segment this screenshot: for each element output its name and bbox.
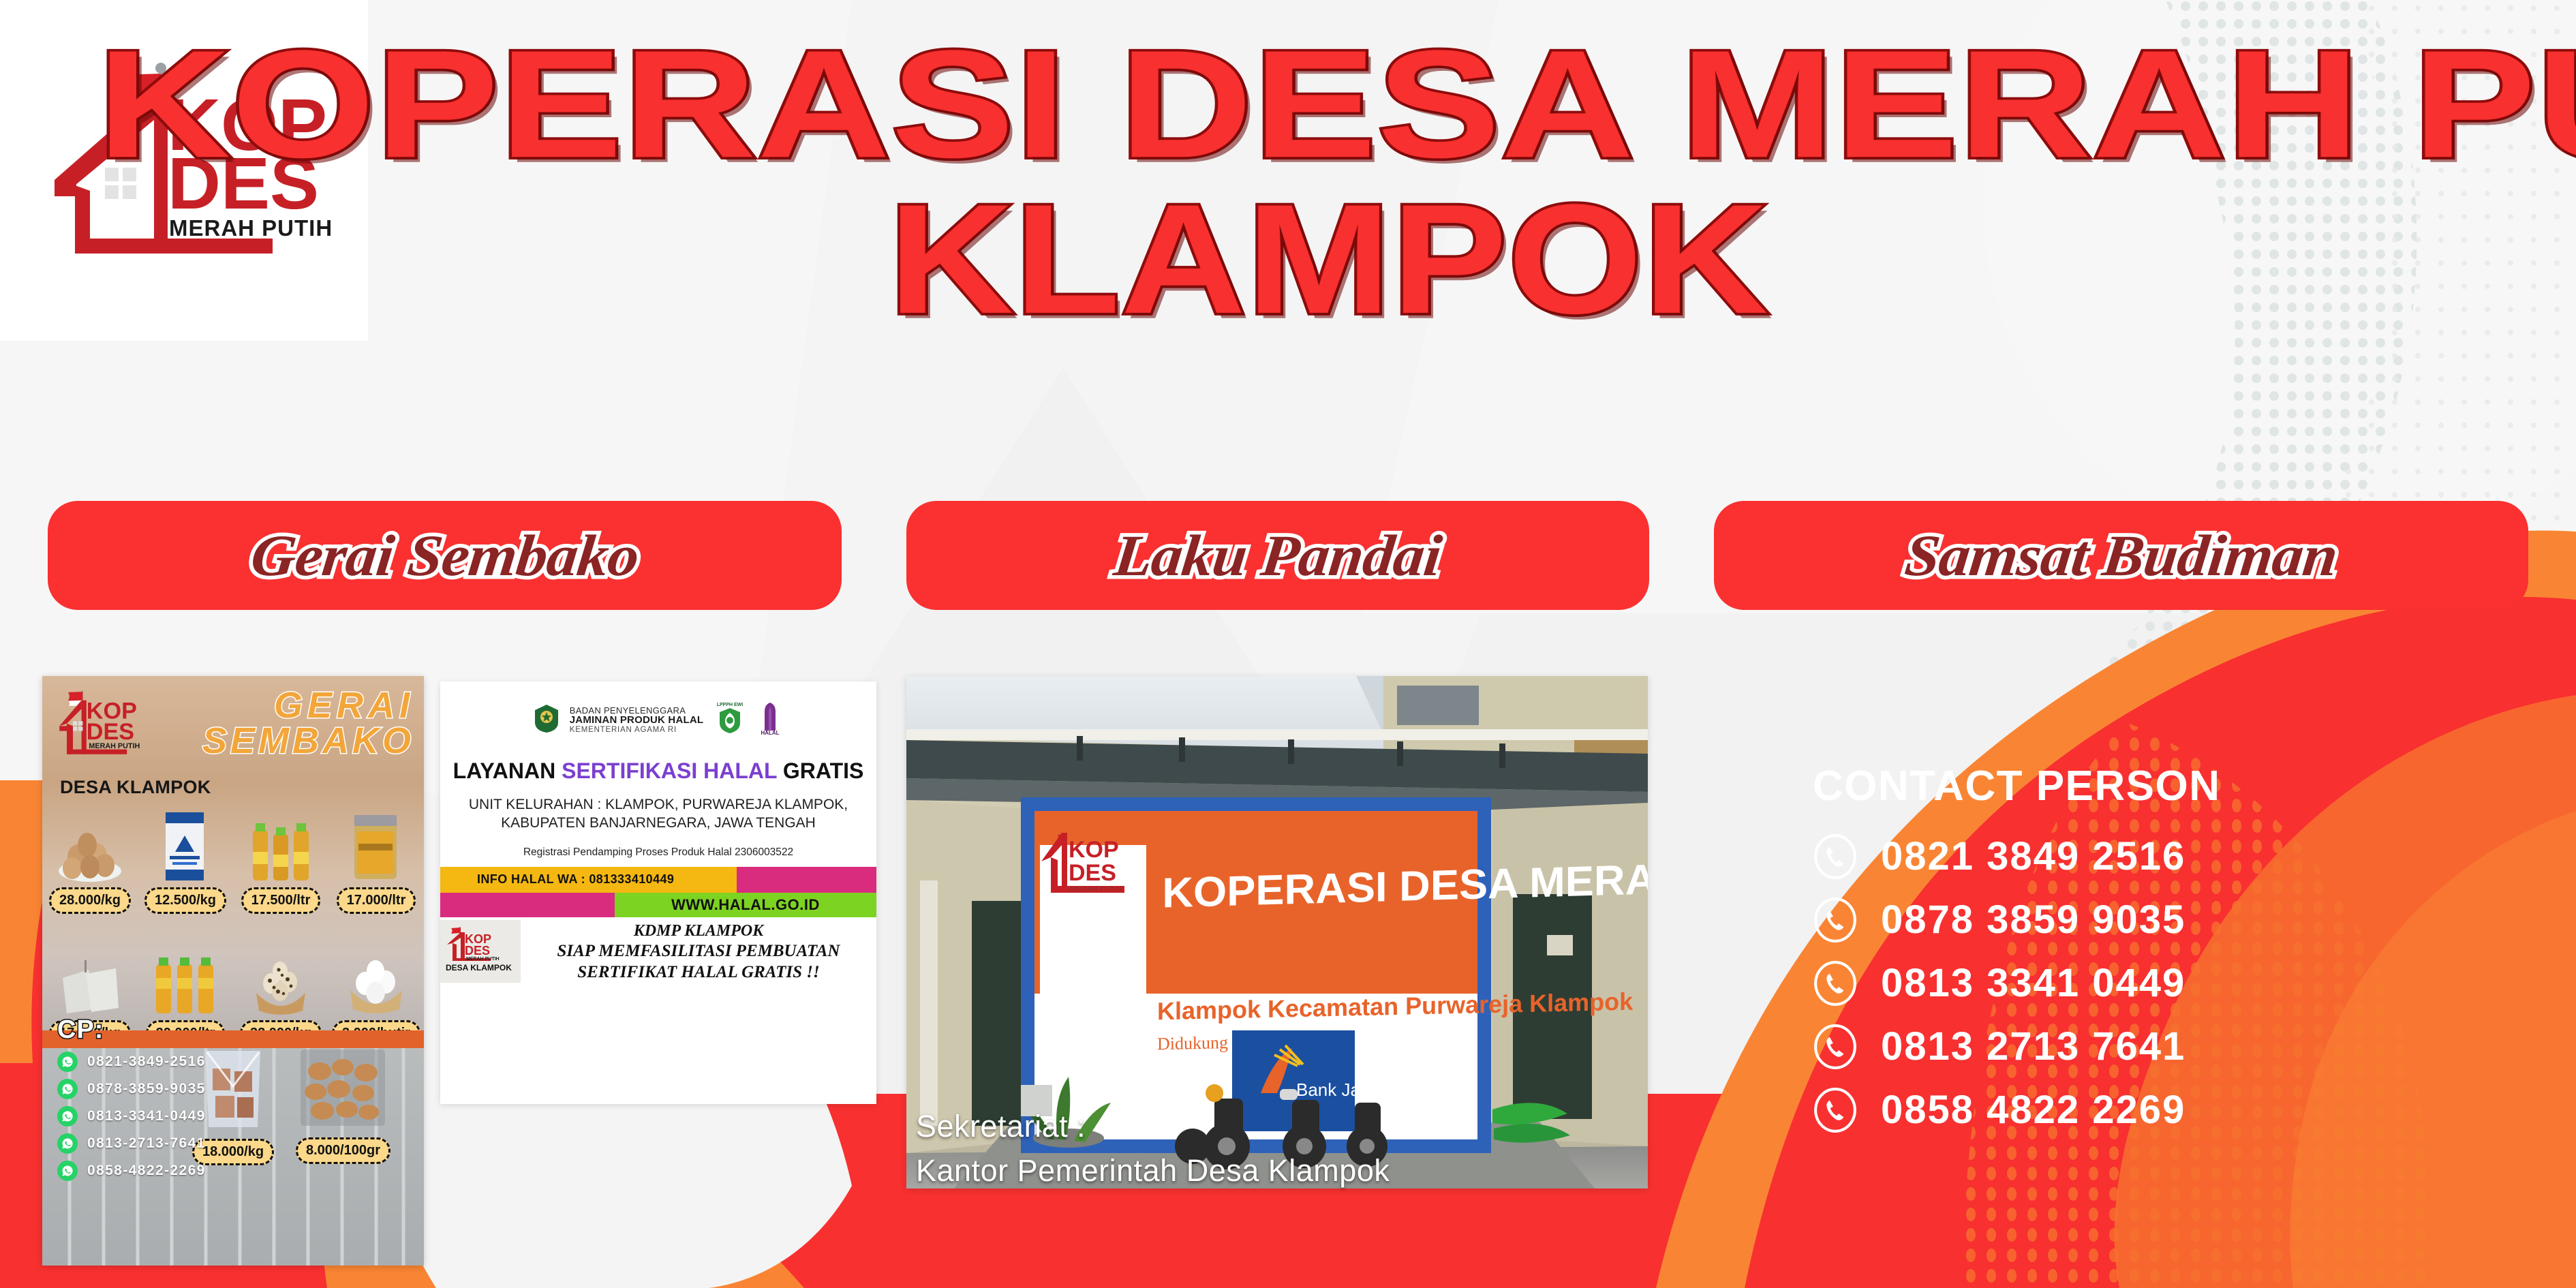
contact-title: CONTACT PERSON [1813, 762, 2221, 810]
contact-row[interactable]: 0821 3849 2516 [1813, 833, 2221, 879]
poster-heading-line1: GERAI [202, 688, 414, 724]
bar-info-wa: INFO HALAL WA : 081333410449 [440, 867, 737, 893]
service-pill-samsat-budiman[interactable]: Samsat Budiman [1714, 501, 2528, 610]
badge-line3: KEMENTERIAN AGAMA RI [570, 726, 704, 734]
bar-magenta-top [737, 867, 876, 893]
kemenag-logo [533, 703, 560, 737]
poster-sertifikasi-halal[interactable]: BADAN PENYELENGGARA JAMINAN PRODUK HALAL… [440, 681, 876, 1104]
cp-number: 0813-3341-0449 [87, 1108, 206, 1124]
halal-heading: LAYANAN SERTIFIKASI HALAL GRATIS [440, 758, 876, 784]
contact-number: 0813 2713 7641 [1881, 1024, 2186, 1069]
service-pill-label: Gerai Sembako [247, 521, 642, 589]
price-tag: 17.000/ltr [337, 887, 416, 914]
photo-caption: Sekretariat : Kantor Pemerintah Desa Kla… [916, 1104, 1390, 1193]
poster-sembako-heading: GERAI SEMBAKO [202, 688, 414, 759]
halal-info-bars: INFO HALAL WA : 081333410449 WWW.HALAL.G… [440, 867, 876, 917]
telur-ayam-image [42, 797, 138, 883]
contact-number: 0813 3341 0449 [1881, 960, 2186, 1006]
halal-indonesia-logo: HALAL [756, 701, 784, 739]
contact-person-panel: CONTACT PERSON 0821 3849 2516 0878 3859 … [1813, 762, 2221, 1150]
halal-heading-post: GRATIS [777, 758, 863, 783]
svg-text:DES: DES [465, 944, 490, 957]
whatsapp-icon [57, 1052, 78, 1072]
cp-row[interactable]: 0821-3849-2516 [57, 1052, 206, 1072]
contact-row[interactable]: 0858 4822 2269 [1813, 1087, 2221, 1133]
price-tag: 12.500/kg [144, 887, 226, 914]
minyak-hemart-image [138, 930, 233, 1016]
photo-caption-line1: Sekretariat : [916, 1104, 1390, 1148]
price-tag: 17.500/ltr [241, 887, 321, 914]
phone-icon [1813, 834, 1858, 879]
whatsapp-icon [57, 1079, 78, 1099]
halal-footer: KOP DES MERAH PUTIH DESA KLAMPOK KDMP KL… [440, 920, 876, 983]
service-pill-gerai-sembako[interactable]: Gerai Sembako [48, 501, 842, 610]
svg-text:MERAH PUTIH: MERAH PUTIH [466, 957, 500, 962]
halal-footer-desa: DESA KLAMPOK [446, 963, 512, 972]
svg-text:DES: DES [87, 719, 134, 745]
whatsapp-icon [57, 1106, 78, 1126]
whatsapp-icon [57, 1161, 78, 1181]
product-cell: 32.000/kg [233, 930, 328, 1047]
contact-row[interactable]: 0878 3859 9035 [1813, 897, 2221, 942]
halal-wa-info: INFO HALAL WA : 081333410449 [440, 872, 674, 887]
minyak-goreng-botol-image [233, 797, 328, 883]
halal-heading-pre: LAYANAN [453, 758, 562, 783]
product-cell: 8.000/100gr [296, 1044, 390, 1164]
price-tag: 28.000/kg [49, 887, 131, 914]
halal-website: WWW.HALAL.GO.ID [671, 896, 820, 914]
tepung-segitiga-biru-image [138, 797, 233, 883]
product-cell: 17.000/ltr [328, 797, 424, 914]
phone-icon [1813, 898, 1858, 942]
halal-footer-line3: SERTIFIKAT HALAL GRATIS !! [521, 962, 876, 983]
minyak-goreng-pouch-image [328, 797, 424, 883]
service-pill-laku-pandai[interactable]: Laku Pandai [906, 501, 1649, 610]
halal-logo-row: BADAN PENYELENGGARA JAMINAN PRODUK HALAL… [440, 681, 876, 739]
contact-row[interactable]: 0813 3341 0449 [1813, 960, 2221, 1006]
cp-row[interactable]: 0813-3341-0449 [57, 1106, 206, 1126]
telur-bebek-image [328, 930, 424, 1016]
bpjph-text: BADAN PENYELENGGARA JAMINAN PRODUK HALAL… [570, 706, 704, 734]
halal-footer-line1: KDMP KLAMPOK [521, 921, 876, 941]
cp-row[interactable]: 0813-2713-7641 [57, 1133, 206, 1154]
svg-text:LPPPH EWI: LPPPH EWI [717, 703, 743, 707]
halal-footer-logo: KOP DES MERAH PUTIH DESA KLAMPOK [440, 920, 521, 983]
page-title-line1: KOPERASI DESA MERAH PUTIH [382, 33, 2276, 149]
product-cell: 17.500/ltr [233, 797, 328, 914]
cp-row[interactable]: 0858-4822-2269 [57, 1161, 206, 1181]
badge-line2: JAMINAN PRODUK HALAL [570, 715, 704, 726]
kerupuk-image [296, 1044, 390, 1133]
page-title-line2: KLAMPOK [382, 187, 2276, 303]
cp-number: 0878-3859-9035 [87, 1081, 206, 1097]
poster-sembako-header: KOP DES MERAH PUTIH DESA KLAMPOK GERAI S… [42, 676, 424, 785]
svg-text:MERAH PUTIH: MERAH PUTIH [89, 742, 140, 750]
cp-number: 0821-3849-2516 [87, 1054, 206, 1070]
photo-caption-line2: Kantor Pemerintah Desa Klampok [916, 1148, 1390, 1193]
service-pill-label: Laku Pandai [1111, 521, 1445, 589]
price-tag: 8.000/100gr [296, 1137, 390, 1164]
title-text-sub: KLAMPOK [173, 182, 2485, 309]
cp-number: 0858-4822-2269 [87, 1163, 206, 1179]
lppph-logo: LPPPH EWI [713, 701, 747, 739]
telur-puyuh-image [233, 930, 328, 1016]
halal-footer-line2: SIAP MEMFASILITASI PEMBUATAN [521, 941, 876, 962]
contact-number: 0858 4822 2269 [1881, 1087, 2186, 1133]
poster-product-grid: 28.000/kg 12.500/kg 17.500/ltr [42, 797, 424, 1047]
product-cell: 3.000/butir [328, 930, 424, 1047]
svg-text:DES: DES [1069, 860, 1116, 886]
badge-line1: BADAN PENYELENGGARA [570, 706, 704, 716]
product-cell: 28.000/kg [42, 797, 138, 914]
service-pill-label: Samsat Budiman [1901, 521, 2340, 589]
title-text-main: KOPERASI DESA MERAH PUTIH [97, 28, 2560, 153]
svg-text:HALAL: HALAL [761, 730, 780, 736]
halal-heading-highlight: SERTIFIKASI HALAL [562, 758, 777, 783]
svg-text:KOP: KOP [1069, 837, 1119, 863]
svg-text:Bank Jateng: Bank Jateng [1296, 1079, 1395, 1100]
product-cell: 12.500/kg [138, 797, 233, 914]
poster-kopdes-logo: KOP DES MERAH PUTIH [55, 686, 177, 781]
cp-row[interactable]: 0878-3859-9035 [57, 1079, 206, 1099]
svg-text:MERAH PUTIH: MERAH PUTIH [1070, 885, 1122, 893]
phone-icon [1813, 1088, 1858, 1133]
poster-gerai-sembako[interactable]: KOP DES MERAH PUTIH DESA KLAMPOK GERAI S… [42, 676, 424, 1266]
poster-contact-block: CP: 0821-3849-2516 0878-3859-9035 0813-3… [57, 1015, 206, 1181]
halal-registration: Registrasi Pendamping Proses Produk Hala… [440, 846, 876, 859]
halal-subtitle: UNIT KELURAHAN : KLAMPOK, PURWAREJA KLAM… [440, 796, 876, 833]
cp-label: CP: [57, 1015, 206, 1045]
halal-footer-text: KDMP KLAMPOK SIAP MEMFASILITASI PEMBUATA… [521, 920, 876, 983]
beras-kemasan-image [42, 930, 138, 1016]
phone-icon [1813, 1024, 1858, 1069]
poster-heading-line2: SEMBAKO [202, 724, 414, 759]
product-row: 28.000/kg 12.500/kg 17.500/ltr [42, 797, 424, 914]
contact-row[interactable]: 0813 2713 7641 [1813, 1024, 2221, 1069]
poster-desa-label: DESA KLAMPOK [60, 777, 211, 798]
whatsapp-icon [57, 1133, 78, 1154]
bar-magenta-bottom [440, 893, 615, 917]
phone-icon [1813, 961, 1858, 1006]
contact-number: 0821 3849 2516 [1881, 833, 2186, 879]
cp-number: 0813-2713-7641 [87, 1135, 206, 1152]
bar-website[interactable]: WWW.HALAL.GO.ID [615, 893, 876, 917]
contact-number: 0878 3859 9035 [1881, 897, 2186, 942]
